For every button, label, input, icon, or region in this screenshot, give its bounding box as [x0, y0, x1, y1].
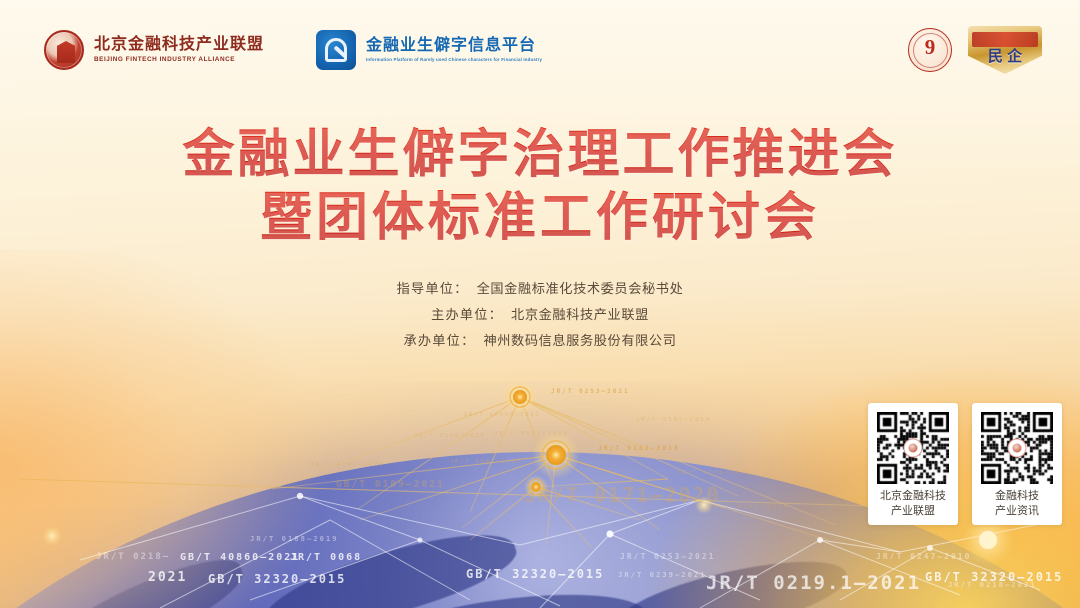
standard-code: GB/T 32320—2015 [208, 572, 346, 586]
quality-award-seal-icon[interactable]: 9 [908, 28, 952, 72]
title-line-2: 暨团体标准工作研讨会 [0, 187, 1080, 250]
standard-code: JR/T 0197—2020 [310, 462, 385, 468]
qr-card-news[interactable]: 金融科技产业资讯 [972, 403, 1062, 525]
organizer-value: 神州数码信息服务股份有限公司 [483, 334, 676, 349]
header-right-logo-group: 9 民 企 [908, 26, 1042, 74]
organizer-label: 指导单位： [397, 282, 469, 297]
standard-code: JR/T 0239—2021 [618, 570, 707, 579]
standard-code: JR/T 0105—2014 [636, 417, 711, 423]
qr-label: 北京金融科技产业联盟 [880, 489, 946, 519]
organizer-value: 北京金融科技产业联盟 [511, 308, 649, 323]
logo-cn-text: 金融业生僻字信息平台 [366, 38, 542, 54]
standard-code: 2021 [148, 570, 187, 585]
qr-center-logo [1008, 439, 1027, 458]
standard-code: JR/T 0218—2021 [948, 580, 1037, 589]
logo-rare-character-platform[interactable]: 金融业生僻字信息平台 Information Platform of Rarel… [316, 30, 542, 70]
logo-en-text: Information Platform of Rarely used Chin… [366, 58, 542, 62]
standard-code: JR/T 0253—2021 [620, 552, 715, 561]
standard-code: JR/T 0068—2020 [450, 459, 522, 465]
qr-label: 金融科技产业资讯 [995, 489, 1039, 519]
organizer-label: 承办单位： [404, 334, 476, 349]
page-title: 金融业生僻字治理工作推进会 暨团体标准工作研讨会 [0, 124, 1080, 251]
conference-poster: JR/T 0253—2021JR/T 0162—2018JR/T 0165—20… [0, 0, 1080, 608]
organizer-list: 指导单位：全国金融标准化技术委员会秘书处 主办单位：北京金融科技产业联盟 承办单… [0, 283, 1080, 362]
standard-code: JR/T 0184—2020 [676, 470, 751, 476]
title-line-1: 金融业生僻字治理工作推进会 [0, 124, 1080, 187]
blue-shield-mark-icon [316, 30, 356, 70]
plaque-band [972, 32, 1038, 47]
standard-code: JR/T 0068 [290, 552, 362, 563]
qr-code-panel: 北京金融科技产业联盟 金融科技产业资讯 [868, 403, 1062, 525]
qr-code-icon[interactable] [981, 412, 1053, 484]
standard-code: JR/T 0162—2018 [598, 444, 680, 452]
organizer-row: 主办单位：北京金融科技产业联盟 [0, 309, 1080, 322]
logo-cn-text: 北京金融科技产业联盟 [94, 37, 264, 53]
standard-code: JR/T 0188—2019 [250, 534, 339, 543]
standard-code: GB/T 0109—2021 [336, 479, 445, 490]
standard-code: JR/T 0171—2020 [524, 483, 721, 507]
standard-code: GB/T 40850—2021 [464, 412, 541, 418]
logo-en-text: BEIJING FINTECH INDUSTRY ALLIANCE [94, 57, 264, 63]
qr-card-alliance[interactable]: 北京金融科技产业联盟 [868, 403, 958, 525]
standard-code: JR/T 0253—2021 [551, 388, 630, 395]
organizer-value: 全国金融标准化技术委员会秘书处 [477, 282, 684, 297]
standard-code: JR/T 0251—2020 [708, 502, 790, 510]
header-logo-group: 北京金融科技产业联盟 BEIJING FINTECH INDUSTRY ALLI… [44, 30, 542, 70]
plaque-mark: 民 企 [968, 49, 1042, 64]
standard-code: GB/T 32320—2015 [466, 567, 604, 581]
standard-code: JR/T 0218— [96, 552, 170, 562]
logo-beijing-fintech-alliance[interactable]: 北京金融科技产业联盟 BEIJING FINTECH INDUSTRY ALLI… [44, 30, 264, 70]
organizer-row: 指导单位：全国金融标准化技术委员会秘书处 [0, 283, 1080, 296]
standard-code: GB/T 40860—2021 [180, 552, 300, 563]
standard-code: JR/T 0247—2010 [876, 552, 971, 561]
seal-mark: 9 [909, 37, 951, 58]
gold-plaque-icon[interactable]: 民 企 [968, 26, 1042, 74]
qr-code-icon[interactable] [877, 412, 949, 484]
red-circular-seal-icon [44, 30, 84, 70]
organizer-row: 承办单位：神州数码信息服务股份有限公司 [0, 335, 1080, 348]
qr-center-logo [904, 439, 923, 458]
standard-code: JR/T 0219.1—2021 [706, 572, 921, 594]
organizer-label: 主办单位： [431, 308, 503, 323]
standard-code: JR/T 0196—2020 [414, 433, 486, 439]
standard-code: JR/T 0165—2018 [494, 431, 569, 437]
